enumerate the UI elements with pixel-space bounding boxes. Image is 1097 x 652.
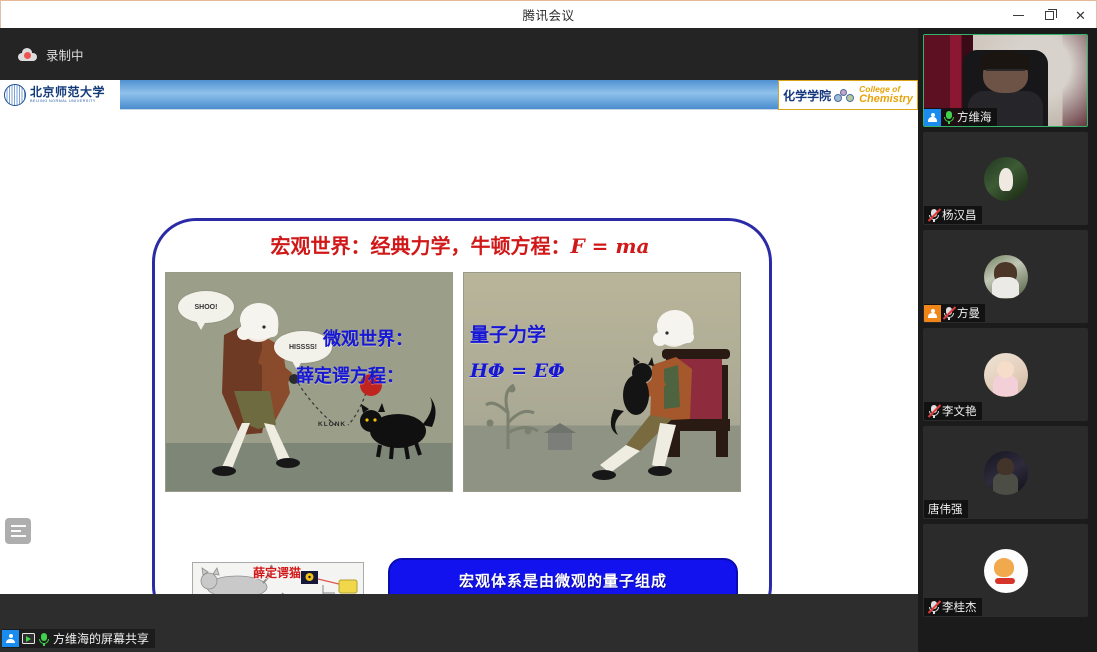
college-name-cn: 化学学院 (783, 87, 831, 104)
newton-sitting-illustration (464, 273, 741, 492)
cartoon-newton-with-cat (463, 272, 741, 492)
avatar (984, 157, 1028, 201)
mic-muted-icon (928, 404, 940, 418)
presenter-name: 方维海的屏幕共享 (53, 630, 149, 647)
avatar (984, 549, 1028, 593)
slide-header-banner: 北京师范大学 BEIJING NORMAL UNIVERSITY 化学学院 Co… (0, 80, 918, 110)
overlay-micro-world: 微观世界： (323, 325, 413, 351)
shared-screen-area: 录制中 北京师范大学 BEIJING NORMAL UNIVERSITY 化学学… (0, 28, 918, 652)
participant-name-2: 方曼 (957, 305, 980, 321)
participant-name-0: 方维海 (957, 109, 992, 125)
university-seal-icon (4, 84, 26, 106)
title-bar: 腾讯会议 ✕ (0, 0, 1097, 28)
slide-body: 宏观世界：经典力学，牛顿方程：F = ma (0, 110, 918, 594)
participant-chip-5: 李桂杰 (924, 598, 982, 616)
close-icon[interactable]: ✕ (1065, 1, 1096, 29)
overlay-schrodinger-label: 薛定谔方程： (296, 362, 404, 388)
newton-equation: F = ma (570, 234, 649, 258)
participant-tile-2[interactable]: 方曼 (923, 230, 1088, 323)
participant-name-5: 李桂杰 (942, 599, 977, 615)
participant-rail[interactable]: 方维海 杨汉昌 方曼 (918, 28, 1097, 652)
university-name-en: BEIJING NORMAL UNIVERSITY (30, 100, 105, 104)
screen-share-icon (22, 633, 35, 644)
college-logo: 化学学院 College of Chemistry (778, 80, 918, 110)
molecule-icon (834, 87, 856, 103)
avatar (984, 255, 1028, 299)
window-title: 腾讯会议 (522, 5, 574, 24)
university-name-cn: 北京师范大学 (30, 86, 105, 98)
participant-chip-2: 方曼 (924, 304, 985, 322)
minimize-icon[interactable] (1003, 1, 1034, 29)
speech-bubble-shoo: SHOO! (178, 291, 234, 323)
participant-tile-3[interactable]: 李文艳 (923, 328, 1088, 421)
participant-tile-0[interactable]: 方维海 (923, 34, 1088, 127)
window-controls: ✕ (1003, 1, 1096, 29)
recording-indicator-bar: 录制中 (0, 28, 918, 80)
tencent-meeting-window: 腾讯会议 ✕ 录制中 北京师范大学 (0, 0, 1097, 652)
mic-muted-icon (928, 600, 940, 614)
college-name-en-line2: Chemistry (859, 94, 913, 106)
avatar (984, 451, 1028, 495)
mic-muted-icon (943, 306, 955, 320)
participant-tile-5[interactable]: 李桂杰 (923, 524, 1088, 617)
participant-name-3: 李文艳 (942, 403, 977, 419)
participant-name-4: 唐伟强 (928, 501, 963, 517)
conclusion-line-1: 宏观体系是由微观的量子组成 (459, 570, 667, 591)
university-logo: 北京师范大学 BEIJING NORMAL UNIVERSITY (0, 80, 120, 110)
slide-title-text: 宏观世界：经典力学，牛顿方程： (270, 234, 570, 258)
participant-chip-3: 李文艳 (924, 402, 982, 420)
host-badge-icon (2, 630, 19, 647)
presenter-name-chip: 方维海的屏幕共享 (2, 629, 155, 648)
slide-title: 宏观世界：经典力学，牛顿方程：F = ma (160, 230, 760, 259)
list-menu-icon[interactable] (5, 518, 31, 544)
participant-chip-4: 唐伟强 (924, 500, 968, 518)
avatar (984, 353, 1028, 397)
recording-label: 录制中 (46, 45, 84, 64)
schrodinger-cat-label: 薛定谔猫 (253, 564, 301, 581)
participant-name-1: 杨汉昌 (942, 207, 977, 223)
participant-chip-0: 方维海 (924, 108, 997, 126)
sound-effect-klonk: KLONK (318, 421, 346, 428)
mic-muted-icon (928, 208, 940, 222)
overlay-quantum-mechanics: 量子力学 (470, 320, 546, 347)
host-badge-icon (924, 109, 941, 126)
mic-on-icon (943, 110, 955, 124)
presentation-slide: 北京师范大学 BEIJING NORMAL UNIVERSITY 化学学院 Co… (0, 80, 918, 594)
participant-chip-1: 杨汉昌 (924, 206, 982, 224)
participant-tile-1[interactable]: 杨汉昌 (923, 132, 1088, 225)
mic-on-icon (38, 632, 50, 646)
participant-tile-4[interactable]: 唐伟强 (923, 426, 1088, 519)
cloud-record-icon (18, 47, 38, 61)
cohost-badge-icon (924, 305, 941, 322)
restore-icon[interactable] (1034, 1, 1065, 29)
overlay-schrodinger-equation: HΦ = EΦ (470, 360, 565, 382)
